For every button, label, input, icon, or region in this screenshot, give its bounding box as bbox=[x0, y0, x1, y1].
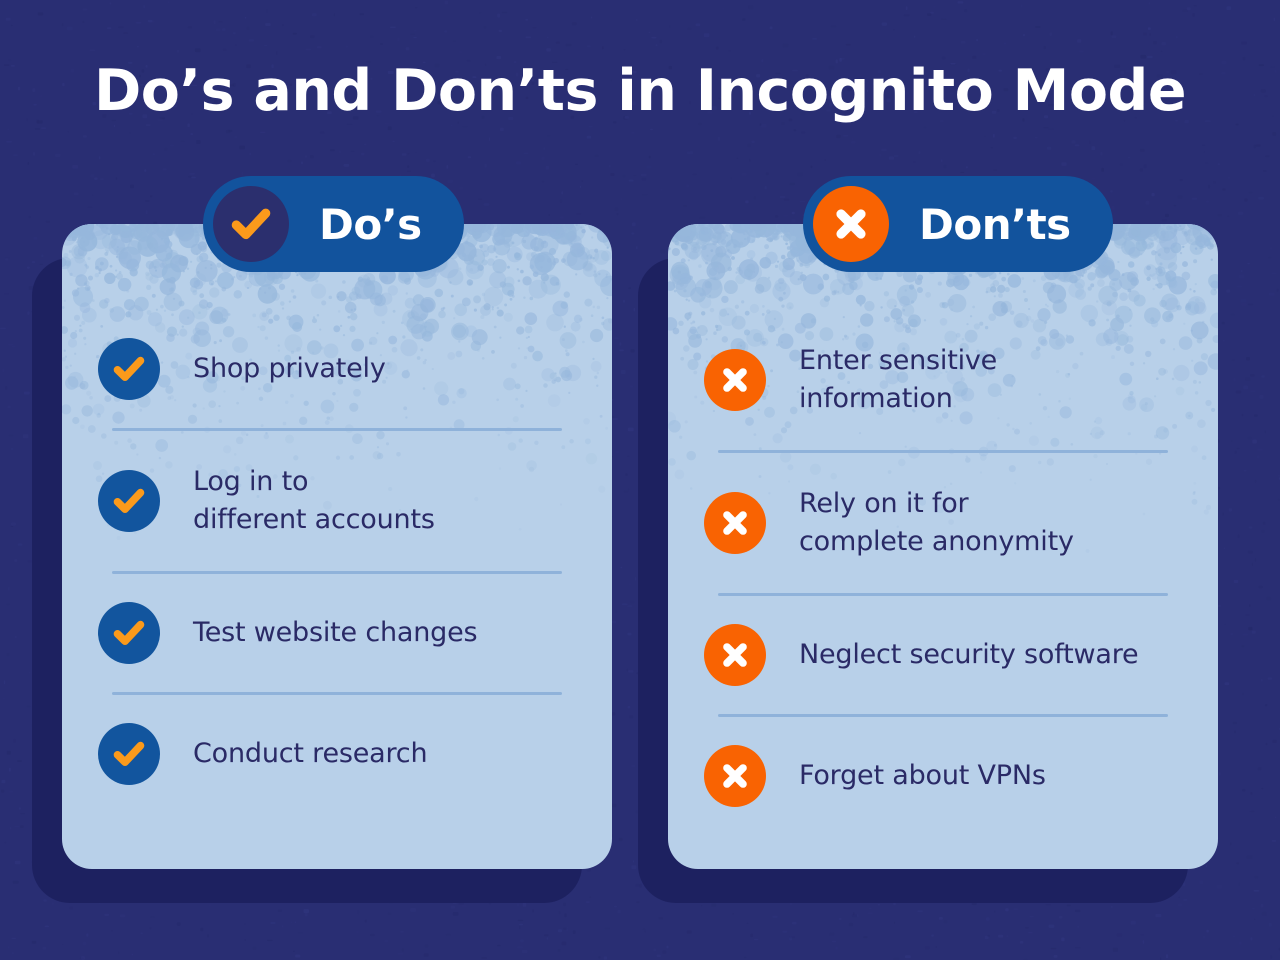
page-title: Do’s and Don’ts in Incognito Mode bbox=[0, 62, 1280, 122]
cross-icon bbox=[704, 492, 766, 554]
list-item-label: Enter sensitive information bbox=[799, 342, 997, 419]
list-item[interactable]: Neglect security software bbox=[704, 596, 1182, 714]
cross-icon bbox=[704, 745, 766, 807]
list-item-label: Rely on it for complete anonymity bbox=[799, 485, 1074, 562]
cross-icon bbox=[704, 349, 766, 411]
card-donts: Enter sensitive information Rely on it f… bbox=[668, 224, 1218, 869]
list-item[interactable]: Forget about VPNs bbox=[704, 717, 1182, 835]
pill-header-dos[interactable]: Do’s bbox=[203, 176, 464, 272]
column-donts: Enter sensitive information Rely on it f… bbox=[668, 224, 1218, 869]
list-item[interactable]: Test website changes bbox=[98, 574, 576, 692]
cross-icon bbox=[704, 624, 766, 686]
list-item-label: Neglect security software bbox=[799, 636, 1138, 674]
list-dos: Shop privately Log in to different accou… bbox=[62, 310, 612, 813]
list-item[interactable]: Enter sensitive information bbox=[704, 310, 1182, 450]
pill-label-dos: Do’s bbox=[319, 200, 422, 249]
list-donts: Enter sensitive information Rely on it f… bbox=[668, 310, 1218, 835]
list-item-label: Log in to different accounts bbox=[193, 463, 435, 540]
check-icon bbox=[213, 186, 289, 262]
list-item[interactable]: Log in to different accounts bbox=[98, 431, 576, 571]
pill-label-donts: Don’ts bbox=[919, 200, 1071, 249]
list-item-label: Conduct research bbox=[193, 735, 427, 773]
list-item-label: Test website changes bbox=[193, 614, 477, 652]
infographic-canvas: Do’s and Don’ts in Incognito Mode Shop p… bbox=[0, 0, 1280, 960]
check-icon bbox=[98, 470, 160, 532]
list-item-label: Forget about VPNs bbox=[799, 757, 1046, 795]
list-item[interactable]: Conduct research bbox=[98, 695, 576, 813]
list-item[interactable]: Shop privately bbox=[98, 310, 576, 428]
check-icon bbox=[98, 602, 160, 664]
cross-icon bbox=[813, 186, 889, 262]
column-dos: Shop privately Log in to different accou… bbox=[62, 224, 612, 869]
card-dos: Shop privately Log in to different accou… bbox=[62, 224, 612, 869]
list-item-label: Shop privately bbox=[193, 350, 386, 388]
check-icon bbox=[98, 338, 160, 400]
pill-header-donts[interactable]: Don’ts bbox=[803, 176, 1113, 272]
check-icon bbox=[98, 723, 160, 785]
list-item[interactable]: Rely on it for complete anonymity bbox=[704, 453, 1182, 593]
